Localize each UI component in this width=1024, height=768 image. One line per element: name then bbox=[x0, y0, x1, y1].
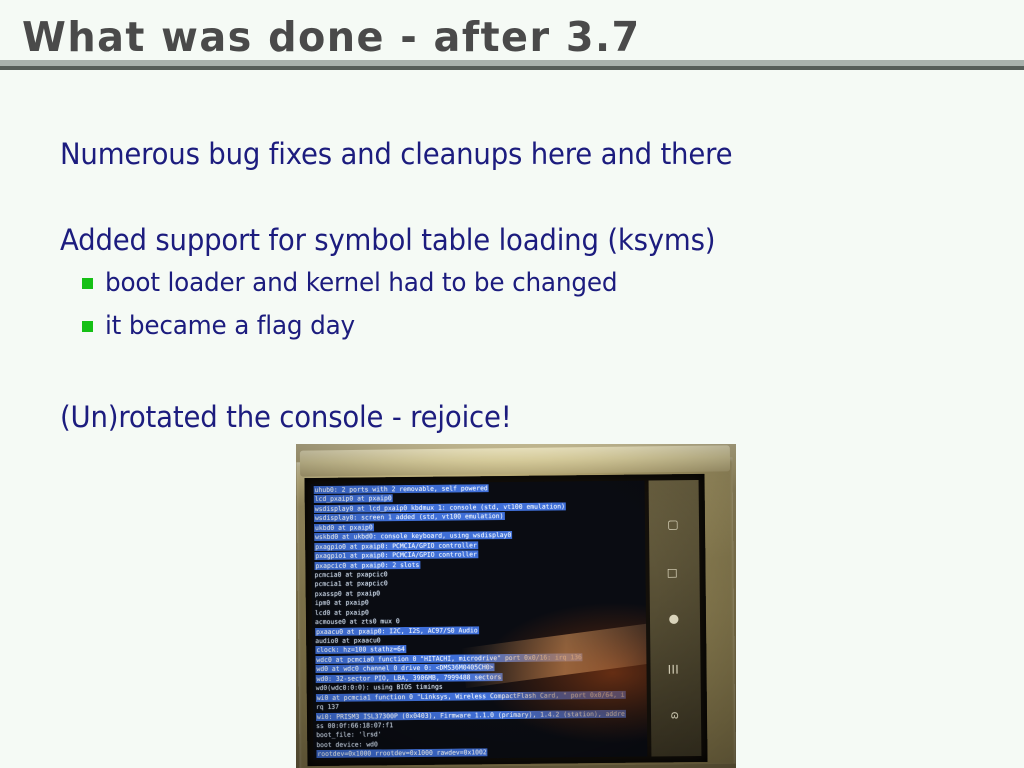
divider-band-dark bbox=[0, 66, 1024, 70]
bullet-level2-boot-loader-label: boot loader and kernel had to be changed bbox=[105, 268, 617, 298]
bullet-level2-boot-loader: boot loader and kernel had to be changed bbox=[82, 268, 644, 298]
square-bullet-icon bbox=[82, 278, 93, 289]
pda-side-button-strip: ▢ ☐ ● ☰ ʚ bbox=[649, 480, 702, 757]
title-divider bbox=[0, 60, 1024, 70]
pda-console-photo: uhub0: 2 ports with 2 removable, self po… bbox=[296, 444, 736, 768]
bullet-level1-unrotated-console: (Un)rotated the console - rejoice! bbox=[60, 400, 512, 434]
pda-screen-bezel: uhub0: 2 ports with 2 removable, self po… bbox=[305, 474, 708, 766]
page-title: What was done - after 3.7 bbox=[22, 13, 641, 61]
bullet-level1-ksyms: Added support for symbol table loading (… bbox=[60, 223, 715, 257]
pda-lcd-screen: uhub0: 2 ports with 2 removable, self po… bbox=[311, 481, 648, 760]
bullet-level2-flag-day-label: it became a flag day bbox=[105, 311, 355, 341]
square-bullet-icon bbox=[82, 321, 93, 332]
bullet-level1-bug-fixes: Numerous bug fixes and cleanups here and… bbox=[60, 137, 732, 171]
home-icon[interactable]: ▢ bbox=[665, 518, 679, 532]
console-cursor bbox=[476, 758, 481, 760]
note-icon[interactable]: ☐ bbox=[665, 566, 679, 580]
pda-case-top-lip bbox=[300, 445, 730, 476]
bullet-level2-flag-day: it became a flag day bbox=[82, 311, 368, 341]
boot-console-log: uhub0: 2 ports with 2 removable, self po… bbox=[314, 483, 648, 760]
back-icon[interactable]: ʚ bbox=[667, 708, 681, 722]
menu-icon[interactable]: ☰ bbox=[666, 662, 680, 676]
contact-icon[interactable]: ● bbox=[666, 612, 680, 626]
